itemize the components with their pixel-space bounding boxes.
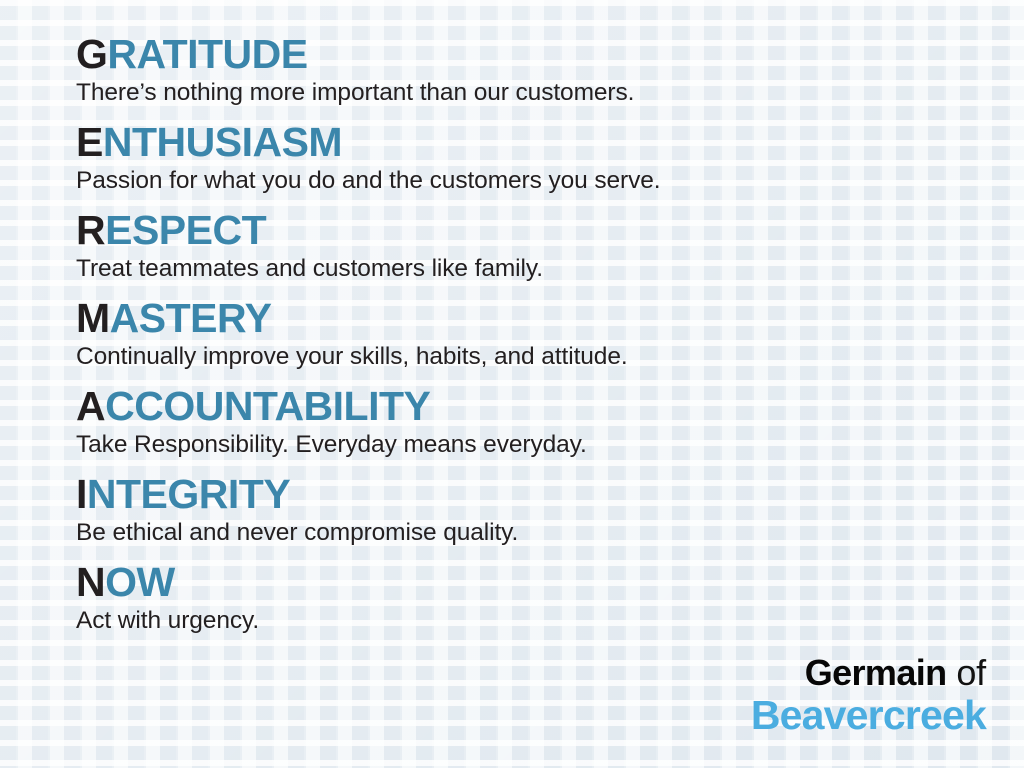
value-item-gratitude: GRATITUDE There’s nothing more important…: [76, 33, 660, 108]
core-values-list: GRATITUDE There’s nothing more important…: [76, 33, 660, 636]
logo-location-name: Beavercreek: [751, 695, 986, 736]
value-heading: ACCOUNTABILITY: [76, 385, 660, 428]
value-description: Take Responsibility. Everyday means ever…: [76, 431, 660, 460]
value-item-integrity: INTEGRITY Be ethical and never compromis…: [76, 473, 660, 548]
value-heading: RESPECT: [76, 209, 660, 252]
value-heading: INTEGRITY: [76, 473, 660, 516]
value-description: There’s nothing more important than our …: [76, 79, 660, 108]
value-description: Continually improve your skills, habits,…: [76, 343, 660, 372]
value-description: Be ethical and never compromise quality.: [76, 519, 660, 548]
value-lead-letter: A: [76, 383, 105, 429]
dealership-logo: Germain of Beavercreek: [751, 655, 986, 736]
value-rest-letters: ASTERY: [110, 295, 272, 341]
value-heading: ENTHUSIASM: [76, 121, 660, 164]
value-lead-letter: R: [76, 207, 105, 253]
value-rest-letters: OW: [105, 559, 175, 605]
value-heading: GRATITUDE: [76, 33, 660, 76]
value-heading: MASTERY: [76, 297, 660, 340]
value-rest-letters: NTHUSIASM: [103, 119, 342, 165]
value-item-mastery: MASTERY Continually improve your skills,…: [76, 297, 660, 372]
value-heading: NOW: [76, 561, 660, 604]
value-lead-letter: I: [76, 471, 87, 517]
value-item-now: NOW Act with urgency.: [76, 561, 660, 636]
value-description: Act with urgency.: [76, 607, 660, 636]
value-lead-letter: E: [76, 119, 103, 165]
value-lead-letter: M: [76, 295, 110, 341]
value-rest-letters: NTEGRITY: [87, 471, 290, 517]
logo-brand-name: Germain: [805, 652, 947, 693]
logo-connector-word: of: [947, 652, 986, 693]
value-description: Treat teammates and customers like famil…: [76, 255, 660, 284]
value-rest-letters: CCOUNTABILITY: [105, 383, 430, 429]
value-item-accountability: ACCOUNTABILITY Take Responsibility. Ever…: [76, 385, 660, 460]
logo-line-primary: Germain of: [751, 655, 986, 691]
value-description: Passion for what you do and the customer…: [76, 167, 660, 196]
value-lead-letter: N: [76, 559, 105, 605]
value-rest-letters: RATITUDE: [107, 31, 307, 77]
value-item-enthusiasm: ENTHUSIASM Passion for what you do and t…: [76, 121, 660, 196]
value-lead-letter: G: [76, 31, 107, 77]
value-item-respect: RESPECT Treat teammates and customers li…: [76, 209, 660, 284]
value-rest-letters: ESPECT: [105, 207, 266, 253]
values-poster: GRATITUDE There’s nothing more important…: [0, 0, 1024, 768]
